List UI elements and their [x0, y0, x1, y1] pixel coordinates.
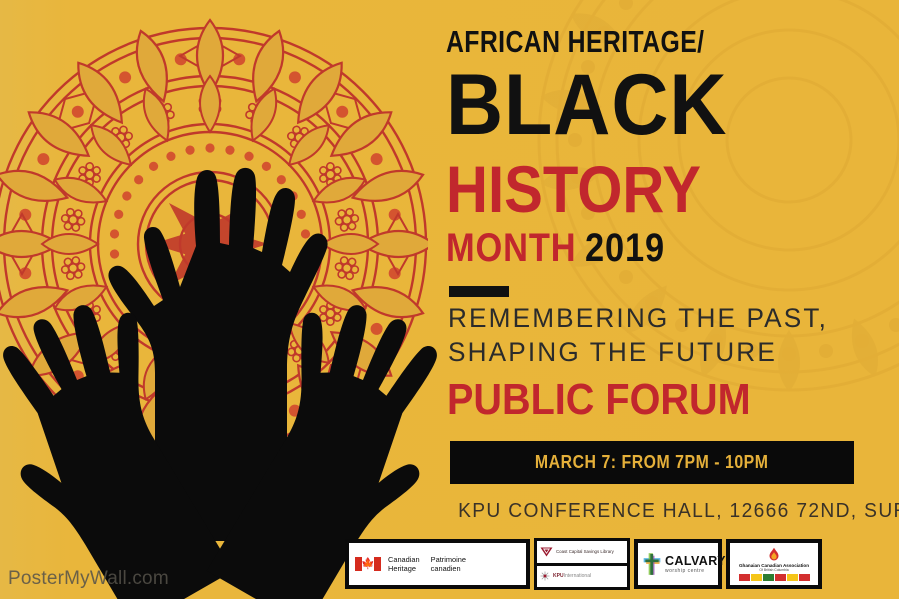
heritage-en-line1: Canadian	[388, 555, 420, 564]
date-time-banner: MARCH 7: FROM 7PM - 10PM	[450, 441, 854, 484]
sponsor-logo-stack: Coast Capital Savings Library KPUInterna…	[534, 538, 630, 590]
headline-month: MONTH	[446, 226, 576, 270]
sponsor-logo-kpu-international: KPUInternational	[537, 566, 627, 588]
coast-capital-label: Coast Capital Savings Library	[556, 549, 614, 554]
headline-history: HISTORY	[446, 156, 701, 222]
date-time-text: MARCH 7: FROM 7PM - 10PM	[535, 452, 769, 473]
hands-silhouette	[0, 150, 440, 599]
headline-black: BLACK	[446, 62, 727, 148]
postermywall-watermark: PosterMyWall.com	[8, 568, 169, 590]
kicker-text: AFRICAN HERITAGE/	[446, 24, 704, 60]
poster-canvas: AFRICAN HERITAGE/ BLACK HISTORY MONTH201…	[0, 0, 899, 599]
sponsor-logo-strip: 🍁 Canadian Heritage Patrimoine canadien	[345, 536, 845, 592]
gca-line2: Of British Columbia	[759, 568, 788, 572]
calvary-cross-icon	[642, 552, 662, 576]
heritage-en-line2: Heritage	[388, 564, 420, 573]
gca-flag-bars	[739, 574, 810, 581]
sponsor-logo-calvary: CALVARY worship centre	[634, 539, 722, 589]
kpu-starburst-icon	[540, 571, 550, 581]
tagline-line1: REMEMBERING THE PAST,	[448, 303, 828, 334]
venue-text: KPU CONFERENCE HALL, 12666 72ND, SURREY	[458, 500, 846, 523]
gca-flame-icon	[767, 547, 781, 562]
coast-capital-chevron-icon	[540, 547, 553, 557]
sponsor-logo-canadian-heritage: 🍁 Canadian Heritage Patrimoine canadien	[345, 539, 530, 589]
heritage-fr-line2: canadien	[431, 564, 466, 573]
tagline-line2: SHAPING THE FUTURE	[448, 337, 777, 368]
calvary-sublabel: worship centre	[665, 569, 726, 574]
calvary-label: CALVARY	[665, 555, 726, 568]
divider-rule	[449, 286, 509, 297]
kpu-label-bold: KPU	[553, 573, 564, 579]
poster-content: AFRICAN HERITAGE/ BLACK HISTORY MONTH201…	[446, 0, 899, 599]
sponsor-logo-coast-capital: Coast Capital Savings Library	[537, 541, 627, 563]
canadian-flag-icon: 🍁	[355, 557, 381, 571]
kpu-label-rest: International	[564, 573, 592, 579]
headline-year: 2019	[585, 226, 665, 270]
heritage-fr-line1: Patrimoine	[431, 555, 466, 564]
sponsor-logo-ghanaian-canadian-association: Ghanaian Canadian Association Of British…	[726, 539, 822, 589]
headline-month-year: MONTH2019	[446, 228, 665, 268]
event-type-label: PUBLIC FORUM	[447, 378, 751, 422]
